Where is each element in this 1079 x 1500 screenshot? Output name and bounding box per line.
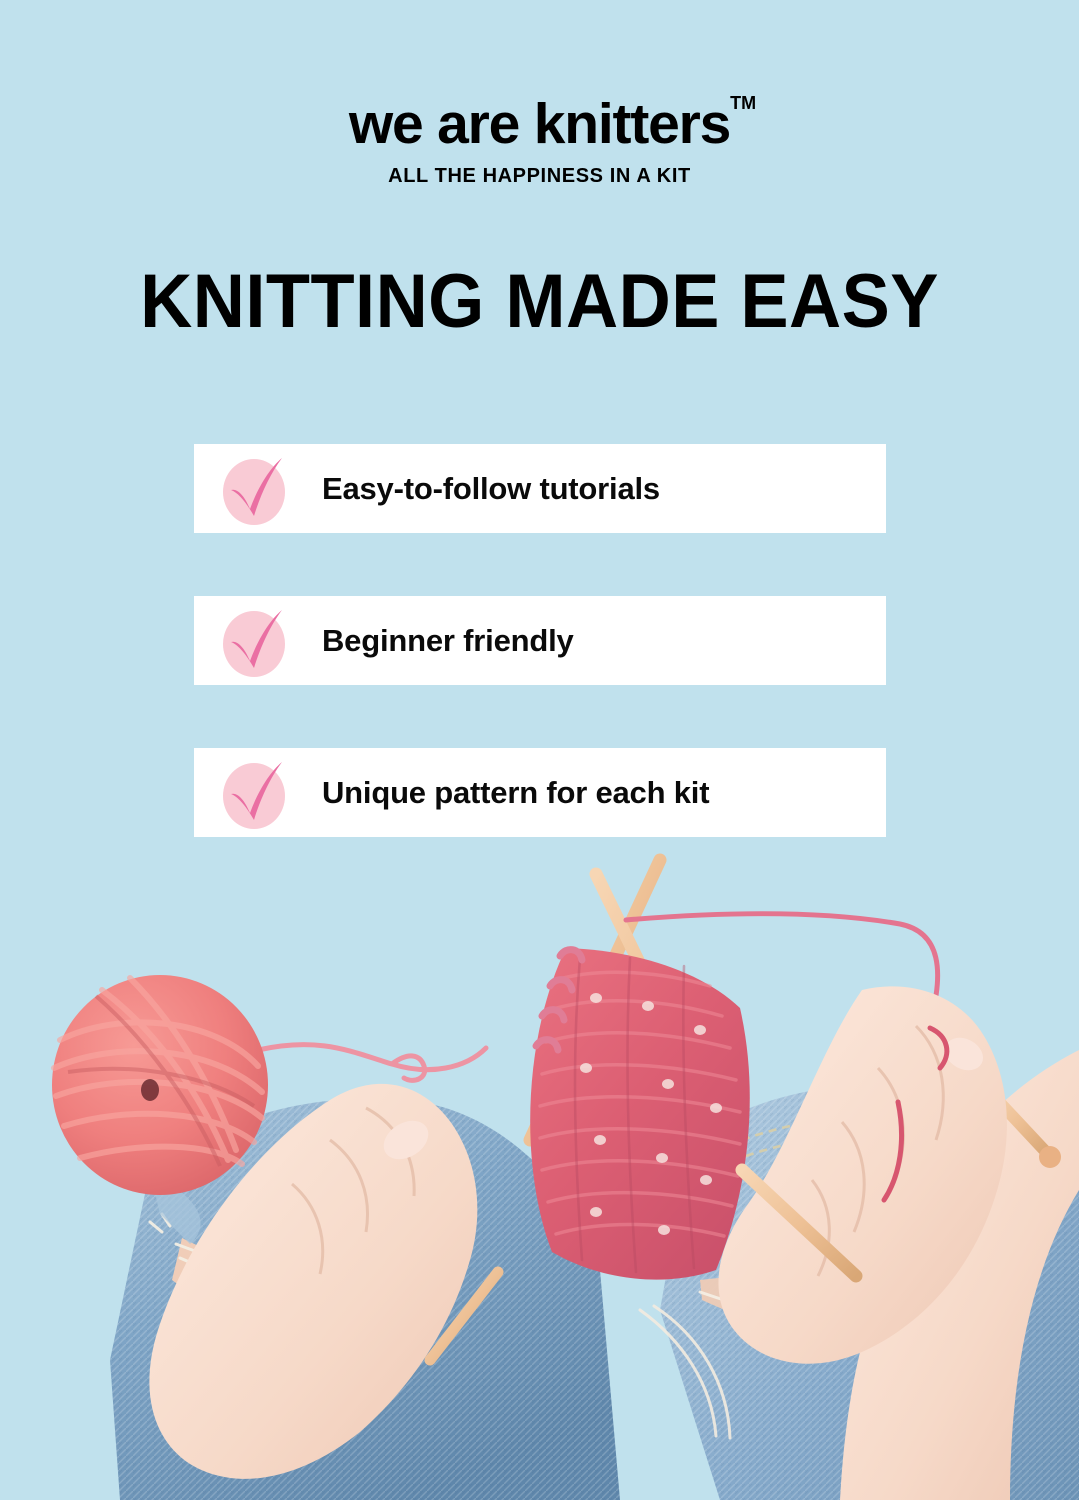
feature-label: Unique pattern for each kit (322, 775, 709, 811)
feature-label: Beginner friendly (322, 623, 574, 659)
brand-name-label: we are knitters (349, 92, 730, 156)
feature-label: Easy-to-follow tutorials (322, 471, 660, 507)
check-mark-icon (218, 604, 292, 678)
brand-logo-text: we are knittersTM (349, 96, 730, 153)
brand-header: we are knittersTM ALL THE HAPPINESS IN A… (0, 96, 1079, 188)
page-title: KNITTING MADE EASY (27, 264, 1052, 340)
check-mark-icon (218, 756, 292, 830)
poster-canvas: we are knittersTM ALL THE HAPPINESS IN A… (0, 0, 1079, 1500)
feature-list: Easy-to-follow tutorials Beginner friend… (194, 444, 886, 900)
hero-photo (0, 840, 1079, 1500)
check-mark-icon (218, 452, 292, 526)
feature-item-beginner: Beginner friendly (194, 596, 886, 685)
trademark-icon: TM (730, 94, 756, 112)
feature-item-pattern: Unique pattern for each kit (194, 748, 886, 837)
brand-tagline: ALL THE HAPPINESS IN A KIT (0, 165, 1079, 188)
feature-item-tutorials: Easy-to-follow tutorials (194, 444, 886, 533)
